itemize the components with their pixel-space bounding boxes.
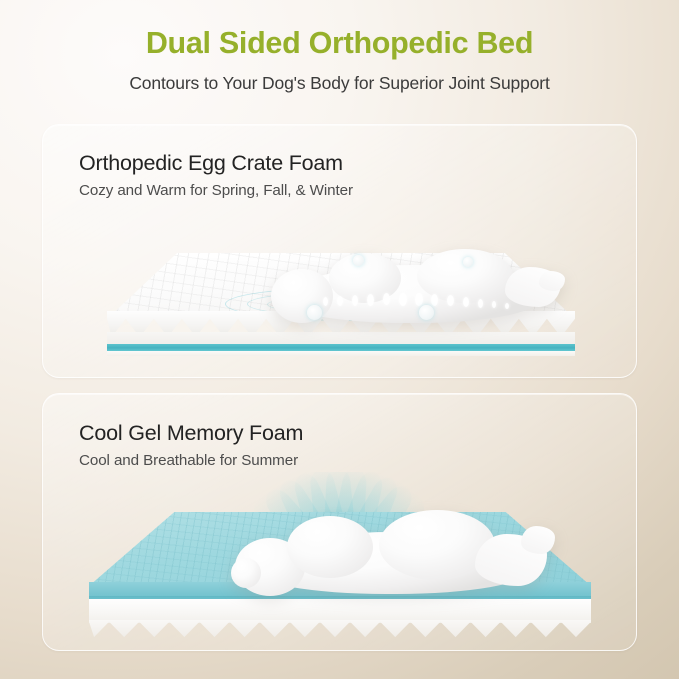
- dog-muzzle: [231, 558, 261, 588]
- joint-dot-back: [353, 255, 364, 266]
- feature-card-cool-gel-memory-foam: Cool Gel Memory Foam Cool and Breathable…: [42, 393, 637, 651]
- spine-dot: [399, 293, 407, 306]
- dog-figure: [229, 502, 559, 610]
- egg-crate-foam-illustration: [43, 217, 637, 378]
- dog-figure: [267, 247, 567, 333]
- spine-dot: [323, 297, 328, 306]
- feature-card-orthopedic-egg-crate-foam: Orthopedic Egg Crate Foam Cozy and Warm …: [42, 124, 637, 378]
- spine-dot: [383, 293, 390, 305]
- page-subtitle: Contours to Your Dog's Body for Superior…: [0, 73, 679, 94]
- header: Dual Sided Orthopedic Bed Contours to Yo…: [0, 24, 679, 94]
- spine-dot: [337, 296, 343, 306]
- dog-head: [271, 269, 333, 323]
- spine-dot: [505, 303, 509, 309]
- joint-dot-rear: [463, 257, 473, 267]
- spine-dot: [352, 295, 358, 306]
- card-subheading: Cool and Breathable for Summer: [79, 452, 298, 469]
- joint-dot-hip: [419, 305, 434, 320]
- gel-memory-foam-slab: [89, 512, 591, 638]
- infographic-page: Dual Sided Orthopedic Bed Contours to Yo…: [0, 0, 679, 679]
- dog-tail: [521, 526, 555, 554]
- dog-tail: [539, 271, 565, 291]
- joint-dot-shoulder: [307, 305, 322, 320]
- spine-dot: [447, 295, 454, 306]
- teal-base-strip: [107, 344, 575, 351]
- cool-gel-foam-illustration: [43, 472, 637, 651]
- dog-shoulder: [287, 516, 373, 578]
- spine-dot: [367, 294, 374, 306]
- card-heading: Orthopedic Egg Crate Foam: [79, 151, 343, 176]
- page-title: Dual Sided Orthopedic Bed: [0, 24, 679, 62]
- egg-crate-foam-slab: [107, 253, 575, 353]
- spine-dot: [478, 299, 483, 308]
- spine-dot: [431, 294, 438, 306]
- spine-dot: [415, 293, 423, 306]
- spine-dot: [492, 301, 496, 308]
- spine-dot: [463, 297, 469, 307]
- card-heading: Cool Gel Memory Foam: [79, 421, 303, 446]
- card-subheading: Cozy and Warm for Spring, Fall, & Winter: [79, 182, 353, 199]
- base-foam-zigzag-edge: [89, 620, 591, 638]
